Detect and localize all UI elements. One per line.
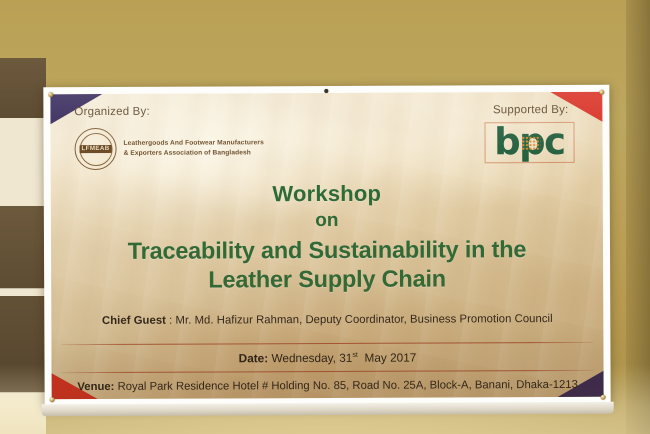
wall-panel-dark-2 bbox=[0, 206, 46, 288]
grommet-top-right bbox=[599, 90, 604, 95]
banner-print-area: Organized By: LFMEAB Leathergoods And Fo… bbox=[50, 92, 603, 399]
banner-bottom-edge bbox=[42, 402, 614, 416]
lfmeab-seal-text: LFMEAB bbox=[79, 145, 111, 153]
event-banner: Organized By: LFMEAB Leathergoods And Fo… bbox=[43, 85, 610, 407]
banner-lighting-overlay bbox=[50, 92, 603, 399]
wall-panel-dark-1 bbox=[0, 58, 46, 118]
grommet-top-left bbox=[48, 92, 53, 97]
grommet-top-center bbox=[324, 89, 328, 93]
grommet-bottom-left bbox=[50, 397, 55, 402]
room-scene: Organized By: LFMEAB Leathergoods And Fo… bbox=[0, 0, 650, 434]
grommet-bottom-right bbox=[601, 395, 606, 400]
wall-seam bbox=[0, 288, 46, 289]
